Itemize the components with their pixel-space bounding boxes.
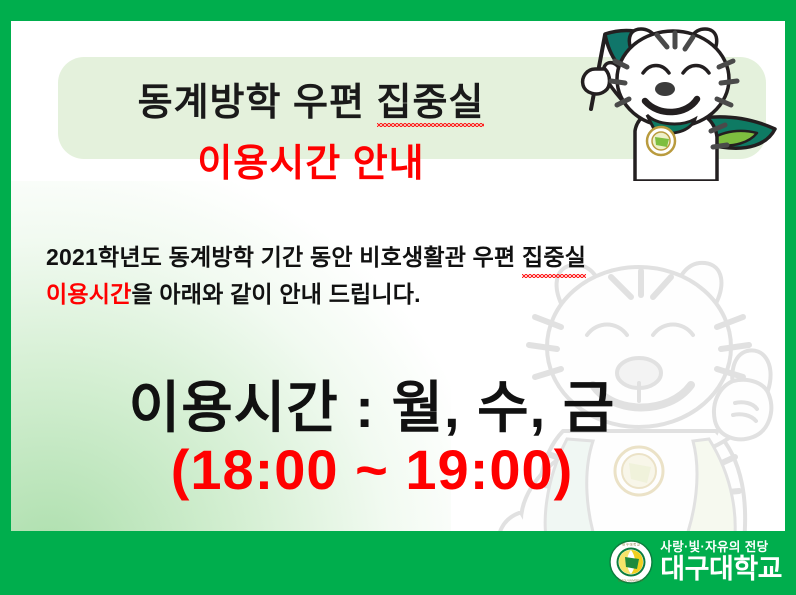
university-name: 대구대학교 [660,556,782,583]
poster-canvas: 동계방학 우편 집중실 이용시간 안내 2021학년도 동계방학 기간 동안 비… [11,21,785,531]
notice-body-line-2: 이용시간을 아래와 같이 안내 드립니다. [46,276,785,313]
poster-title-line-2: 이용시간 안내 [71,144,551,186]
operating-time-line: (18:00 ~ 19:00) [22,437,722,502]
university-logo: 대 구 대 학 교 DAEGU UNIVERSITY 사랑·빛·자유의 전당 대… [609,533,782,591]
svg-text:DAEGU UNIVERSITY: DAEGU UNIVERSITY [619,578,645,582]
frame-border-left [0,0,11,595]
svg-text:대 구 대 학 교: 대 구 대 학 교 [622,542,640,547]
university-tagline: 사랑·빛·자유의 전당 [660,541,768,554]
body-highlight-term: 이용시간 [46,281,131,307]
frame-border-top [0,0,796,21]
body-line2-rest: 을 아래와 같이 안내 드립니다. [131,281,420,307]
daegu-university-seal-icon: 대 구 대 학 교 DAEGU UNIVERSITY [609,540,653,584]
body-line1-flagged-word: 집중실 [522,239,586,276]
title-line1-main: 동계방학 우편 [138,82,377,124]
university-logo-text: 사랑·빛·자유의 전당 대구대학교 [660,541,782,584]
poster-root: 동계방학 우편 집중실 이용시간 안내 2021학년도 동계방학 기간 동안 비… [0,0,796,595]
body-line1-pre: 2021학년도 동계방학 기간 동안 비호생활관 우편 [46,244,522,270]
title-line1-flagged-word: 집중실 [377,83,485,125]
notice-body-line-1: 2021학년도 동계방학 기간 동안 비호생활관 우편 집중실 [46,239,785,276]
notice-body-text: 2021학년도 동계방학 기간 동안 비호생활관 우편 집중실 이용시간을 아래… [46,239,785,314]
operating-days-line: 이용시간 : 월, 수, 금 [22,363,722,444]
frame-border-right [785,0,796,595]
poster-title-line-1: 동계방학 우편 집중실 [71,83,551,125]
